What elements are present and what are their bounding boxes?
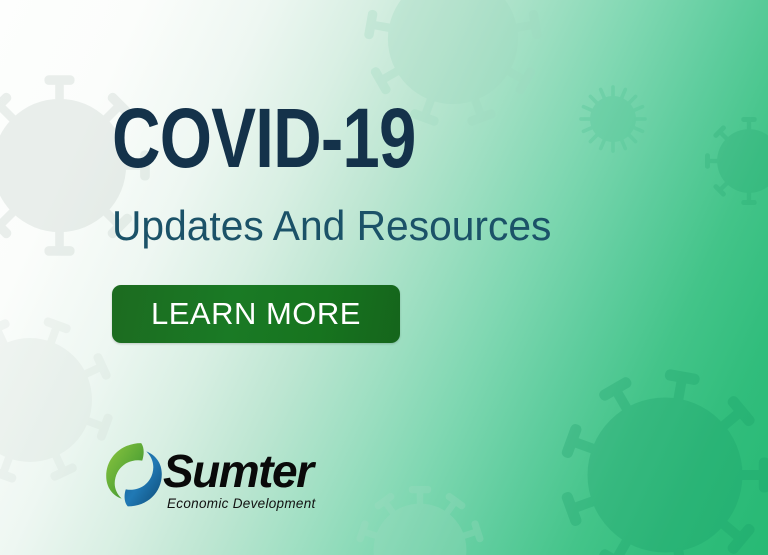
- page-subtitle: Updates And Resources: [112, 203, 551, 249]
- sumter-economic-development-logo[interactable]: Sumter Economic Development: [103, 440, 318, 518]
- logo-tagline: Economic Development: [167, 496, 316, 512]
- page-title: COVID-19: [112, 96, 416, 180]
- banner-content: COVID-19 Updates And Resources LEARN MOR…: [0, 0, 768, 555]
- covid-19-promo-banner: COVID-19 Updates And Resources LEARN MOR…: [0, 0, 768, 555]
- learn-more-button[interactable]: LEARN MORE: [112, 285, 400, 343]
- logo-name: Sumter: [163, 446, 312, 496]
- logo-wordmark: Sumter Economic Development: [163, 446, 323, 516]
- sumter-swoosh-icon: [103, 440, 165, 510]
